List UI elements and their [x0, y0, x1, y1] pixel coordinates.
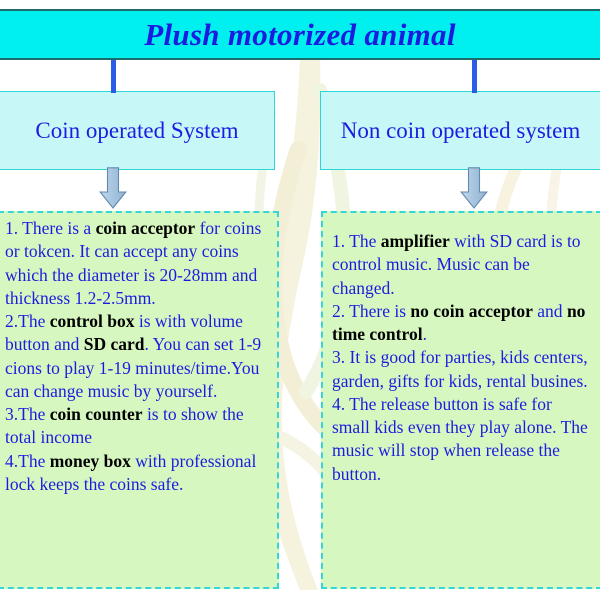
diagram-title-box: Plush motorized animal — [0, 9, 600, 60]
detail-item-number: 3. — [5, 404, 18, 424]
down-arrow-icon-coin-operated — [99, 167, 127, 209]
detail-keyword: coin acceptor — [96, 218, 196, 238]
detail-item: 3.The coin counter is to show the total … — [5, 403, 271, 450]
page-title: Plush motorized animal — [144, 19, 456, 50]
detail-keyword: SD card — [84, 334, 145, 354]
detail-item-number: 2. — [332, 301, 345, 321]
down-arrow-icon-non-coin-operated — [460, 167, 488, 209]
detail-item: 2. There is no coin acceptor and no time… — [332, 300, 594, 347]
branch-label-coin-operated: Coin operated System — [35, 118, 238, 143]
detail-text: It is good for parties, kids centers, ga… — [332, 347, 588, 390]
detail-item-number: 1. — [5, 218, 18, 238]
branch-header-coin-operated[interactable]: Coin operated System — [0, 91, 275, 170]
detail-text: There is — [345, 301, 410, 321]
detail-item-number: 3. — [332, 347, 345, 367]
diagram-canvas: Plush motorized animal Coin operated Sys… — [0, 0, 600, 600]
detail-item: 3. It is good for parties, kids centers,… — [332, 346, 594, 393]
detail-text: The — [18, 311, 50, 331]
detail-text: There is a — [18, 218, 95, 238]
connector-line-coin-operated — [111, 60, 116, 93]
branch-header-non-coin-operated[interactable]: Non coin operated system — [320, 91, 600, 170]
detail-item-number: 2. — [5, 311, 18, 331]
detail-keyword: control box — [50, 311, 135, 331]
detail-panel-coin-operated: 1. There is a coin acceptor for coins or… — [0, 211, 279, 589]
detail-panel-non-coin-operated: 1. The amplifier with SD card is to cont… — [321, 211, 600, 589]
detail-item-number: 1. — [332, 231, 345, 251]
detail-keyword: amplifier — [381, 231, 450, 251]
detail-keyword: money box — [50, 451, 131, 471]
detail-item-number: 4. — [332, 394, 345, 414]
detail-item: 1. There is a coin acceptor for coins or… — [5, 217, 271, 310]
detail-item: 4.The money box with professional lock k… — [5, 450, 271, 497]
detail-text: The — [345, 231, 381, 251]
detail-keyword: no coin acceptor — [410, 301, 532, 321]
detail-item: 2.The control box is with volume button … — [5, 310, 271, 403]
detail-item: 4. The release button is safe for small … — [332, 393, 594, 486]
detail-text: The — [18, 404, 50, 424]
detail-text: The release button is safe for small kid… — [332, 394, 588, 484]
branch-label-non-coin-operated: Non coin operated system — [341, 118, 581, 143]
detail-text: and — [533, 301, 567, 321]
detail-text: The — [18, 451, 50, 471]
connector-line-non-coin-operated — [472, 60, 477, 93]
detail-text: . — [423, 324, 427, 344]
detail-item-number: 4. — [5, 451, 18, 471]
detail-item: 1. The amplifier with SD card is to cont… — [332, 230, 594, 300]
detail-keyword: coin counter — [50, 404, 143, 424]
